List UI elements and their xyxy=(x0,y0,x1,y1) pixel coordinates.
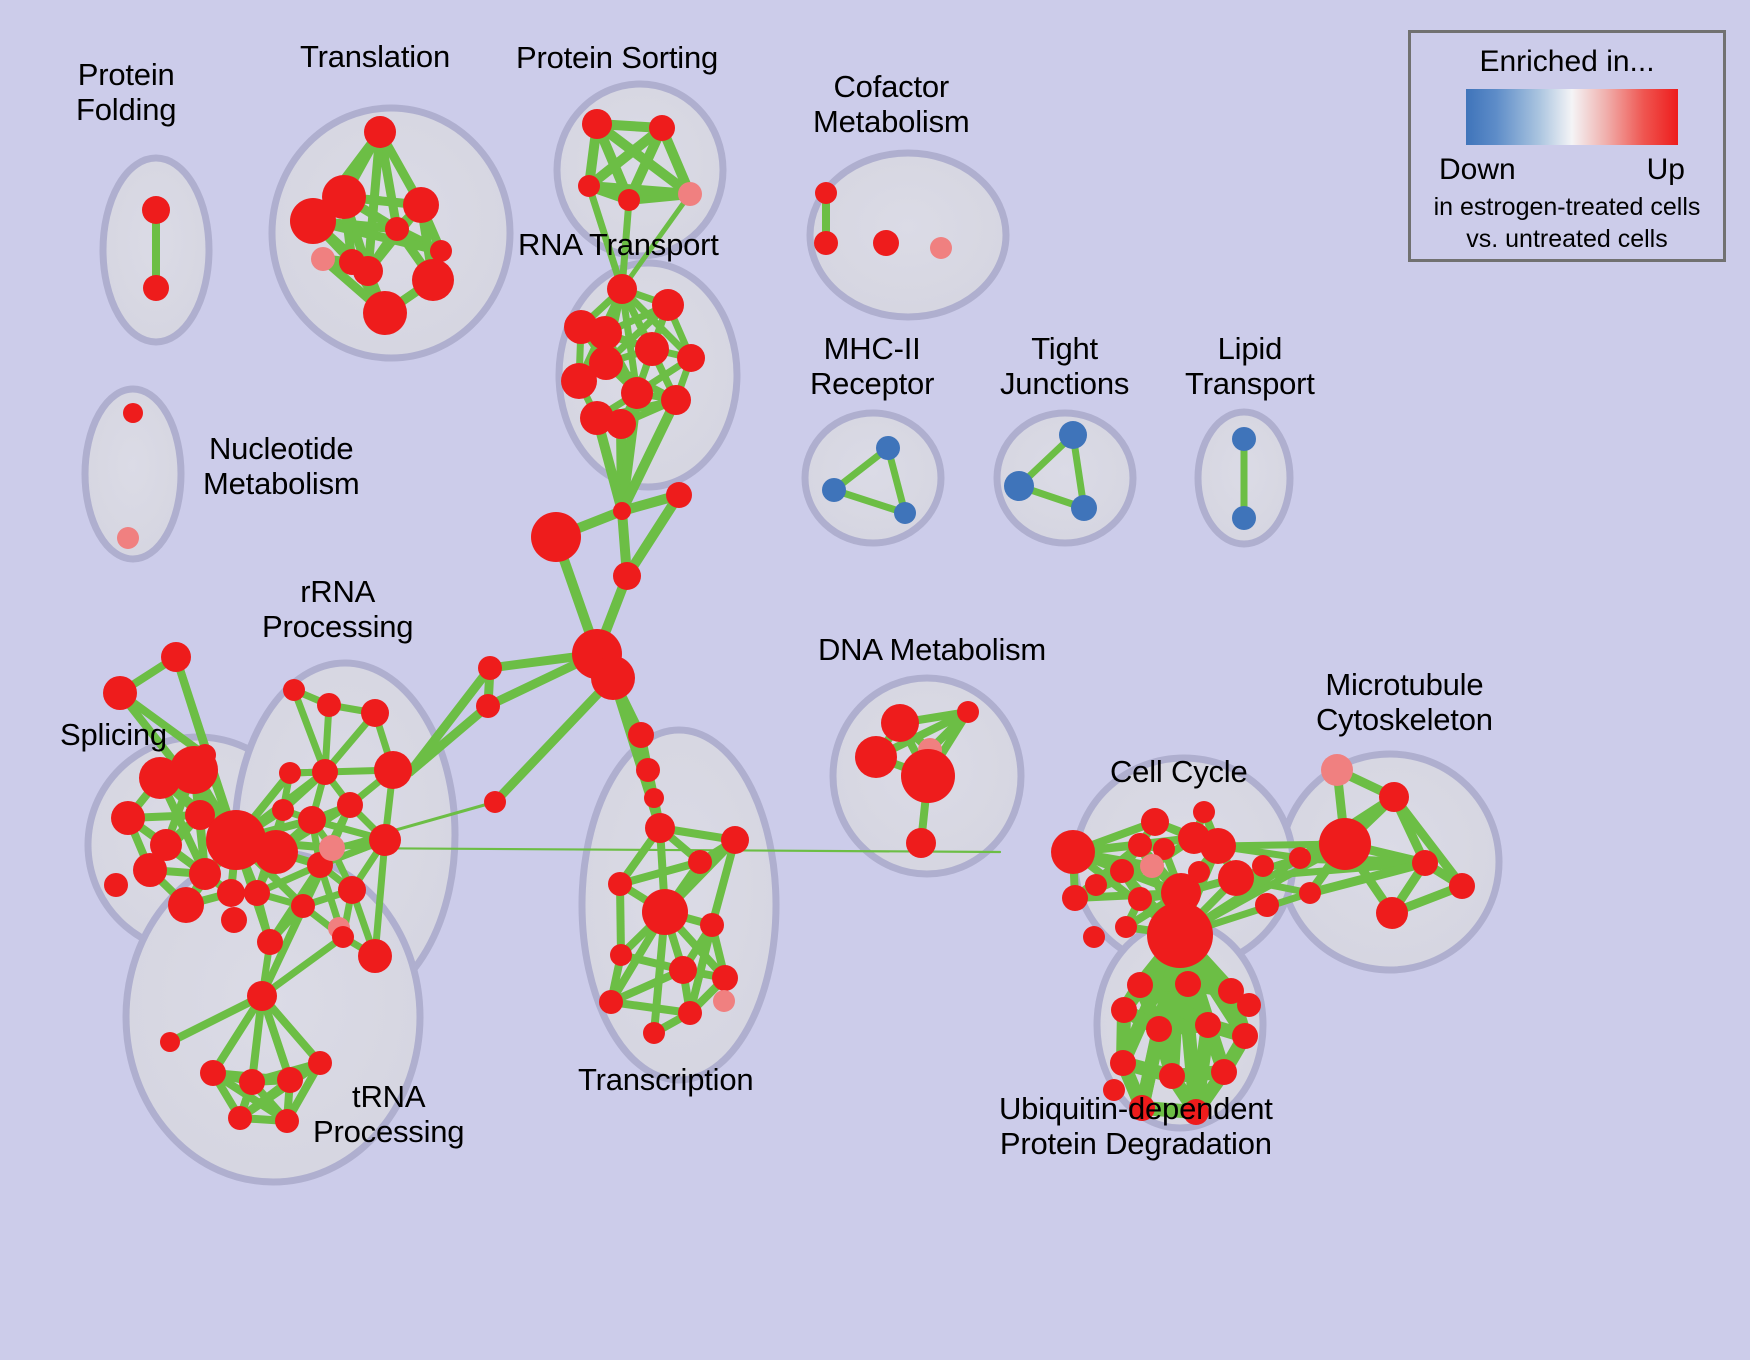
node xyxy=(1232,506,1256,530)
node xyxy=(291,894,315,918)
node xyxy=(247,981,277,1011)
cluster-label-cofactor-metabolism: Cofactor Metabolism xyxy=(813,70,970,139)
node xyxy=(1146,1016,1172,1042)
node xyxy=(1237,993,1261,1017)
legend-color-gradient-bar xyxy=(1466,89,1678,145)
node xyxy=(1111,997,1137,1023)
cluster-label-rrna-processing: rRNA Processing xyxy=(262,575,413,644)
hull-mhc xyxy=(805,413,941,543)
node xyxy=(578,175,600,197)
node xyxy=(1083,926,1105,948)
node xyxy=(161,642,191,672)
node xyxy=(1110,1050,1136,1076)
node xyxy=(117,527,139,549)
node xyxy=(374,751,412,789)
node xyxy=(337,792,363,818)
node xyxy=(1232,427,1256,451)
node xyxy=(1141,808,1169,836)
node xyxy=(1051,830,1095,874)
node xyxy=(484,791,506,813)
node xyxy=(369,824,401,856)
node xyxy=(636,758,660,782)
node xyxy=(561,363,597,399)
node xyxy=(628,722,654,748)
cluster-label-rna-transport: RNA Transport xyxy=(518,228,719,263)
node xyxy=(1379,782,1409,812)
node xyxy=(1110,859,1134,883)
node xyxy=(606,409,636,439)
node xyxy=(1128,887,1152,911)
node xyxy=(104,873,128,897)
node xyxy=(1188,861,1210,883)
node xyxy=(721,826,749,854)
node xyxy=(1159,1063,1185,1089)
node xyxy=(358,939,392,973)
legend-subtitle-line2: vs. untreated cells xyxy=(1411,225,1723,254)
node xyxy=(700,913,724,937)
node xyxy=(221,907,247,933)
node xyxy=(712,965,738,991)
node xyxy=(361,699,389,727)
node xyxy=(1376,897,1408,929)
node xyxy=(666,482,692,508)
node xyxy=(338,876,366,904)
node xyxy=(275,1109,299,1133)
node xyxy=(200,1060,226,1086)
node xyxy=(363,291,407,335)
node xyxy=(645,813,675,843)
node xyxy=(283,679,305,701)
cluster-label-translation: Translation xyxy=(300,40,450,75)
node xyxy=(142,196,170,224)
node xyxy=(678,182,702,206)
node xyxy=(160,1032,180,1052)
node xyxy=(1321,754,1353,786)
cluster-label-protein-sorting: Protein Sorting xyxy=(516,41,718,76)
node xyxy=(478,656,502,680)
node xyxy=(930,237,952,259)
node xyxy=(103,676,137,710)
node xyxy=(649,115,675,141)
node xyxy=(339,249,365,275)
node xyxy=(957,701,979,723)
node xyxy=(257,929,283,955)
node xyxy=(881,704,919,742)
node xyxy=(311,247,335,271)
node xyxy=(669,956,697,984)
node xyxy=(599,990,623,1014)
node xyxy=(123,403,143,423)
node xyxy=(1127,972,1153,998)
node xyxy=(217,879,245,907)
node xyxy=(364,116,396,148)
cluster-label-microtubule-cytoskeleton: Microtubule Cytoskeleton xyxy=(1316,668,1493,737)
node xyxy=(876,436,900,460)
hull-cofactor xyxy=(810,153,1006,317)
node xyxy=(1218,860,1254,896)
node xyxy=(1412,850,1438,876)
node xyxy=(239,1069,265,1095)
legend-up-label: Up xyxy=(1647,153,1685,187)
node xyxy=(1252,855,1274,877)
node xyxy=(133,853,167,887)
legend-down-label: Down xyxy=(1439,153,1516,187)
node xyxy=(1232,1023,1258,1049)
node xyxy=(713,990,735,1012)
cluster-label-nucleotide-metabolism: Nucleotide Metabolism xyxy=(203,432,360,501)
node xyxy=(815,182,837,204)
node xyxy=(531,512,581,562)
legend-title: Enriched in... xyxy=(1411,45,1723,79)
node xyxy=(607,274,637,304)
node xyxy=(430,240,452,262)
node xyxy=(1140,854,1164,878)
node xyxy=(644,788,664,808)
node xyxy=(677,344,705,372)
node xyxy=(1200,828,1236,864)
node xyxy=(642,889,688,935)
node xyxy=(1062,885,1088,911)
node xyxy=(564,310,598,344)
node xyxy=(1115,916,1137,938)
node xyxy=(308,1051,332,1075)
cluster-label-lipid-transport: Lipid Transport xyxy=(1185,332,1315,401)
node xyxy=(661,385,691,415)
node xyxy=(1319,818,1371,870)
cluster-label-cell-cycle: Cell Cycle xyxy=(1110,755,1248,790)
node xyxy=(168,887,204,923)
cluster-label-trna-processing: tRNA Processing xyxy=(313,1080,464,1149)
node xyxy=(272,799,294,821)
legend-box: Enriched in... Down Up in estrogen-treat… xyxy=(1408,30,1726,262)
node xyxy=(688,850,712,874)
node xyxy=(1299,882,1321,904)
node xyxy=(476,694,500,718)
node xyxy=(1211,1059,1237,1085)
node xyxy=(1193,801,1215,823)
cluster-label-transcription: Transcription xyxy=(578,1063,753,1098)
node xyxy=(403,187,439,223)
node xyxy=(111,801,145,835)
node xyxy=(1175,971,1201,997)
cluster-label-ubiquitin-protein-degradation: Ubiquitin-dependent Protein Degradation xyxy=(999,1092,1273,1161)
cluster-label-splicing: Splicing xyxy=(60,718,167,753)
node xyxy=(1128,833,1152,857)
node xyxy=(894,502,916,524)
node xyxy=(1147,902,1213,968)
node xyxy=(1289,847,1311,869)
node xyxy=(1004,471,1034,501)
node xyxy=(228,1106,252,1130)
enrichment-map-figure: Protein Folding Translation Protein Sort… xyxy=(0,0,1750,1360)
cluster-label-protein-folding: Protein Folding xyxy=(76,58,176,127)
node xyxy=(1195,1012,1221,1038)
node xyxy=(873,230,899,256)
node xyxy=(312,759,338,785)
node xyxy=(290,198,336,244)
node xyxy=(332,926,354,948)
node xyxy=(1449,873,1475,899)
node xyxy=(822,478,846,502)
node xyxy=(277,1067,303,1093)
node xyxy=(621,377,653,409)
cluster-label-dna-metabolism: DNA Metabolism xyxy=(818,633,1046,668)
node xyxy=(1255,893,1279,917)
node xyxy=(678,1001,702,1025)
node xyxy=(319,835,345,861)
legend-subtitle-line1: in estrogen-treated cells xyxy=(1411,193,1723,222)
node xyxy=(582,109,612,139)
node xyxy=(613,562,641,590)
node xyxy=(412,259,454,301)
node xyxy=(591,656,635,700)
node xyxy=(1071,495,1097,521)
node xyxy=(254,830,298,874)
node xyxy=(385,217,409,241)
node xyxy=(618,189,640,211)
node xyxy=(244,880,270,906)
node xyxy=(1059,421,1087,449)
node xyxy=(814,231,838,255)
node xyxy=(652,289,684,321)
node xyxy=(643,1022,665,1044)
node xyxy=(279,762,301,784)
cluster-label-tight-junctions: Tight Junctions xyxy=(1000,332,1129,401)
node xyxy=(610,944,632,966)
node xyxy=(298,806,326,834)
node xyxy=(317,693,341,717)
node xyxy=(855,736,897,778)
node xyxy=(189,858,221,890)
node xyxy=(608,872,632,896)
node xyxy=(143,275,169,301)
cluster-label-mhc-ii-receptor: MHC-II Receptor xyxy=(810,332,934,401)
node xyxy=(901,749,955,803)
node xyxy=(613,502,631,520)
node xyxy=(635,332,669,366)
node xyxy=(1085,874,1107,896)
node xyxy=(906,828,936,858)
node xyxy=(170,746,218,794)
